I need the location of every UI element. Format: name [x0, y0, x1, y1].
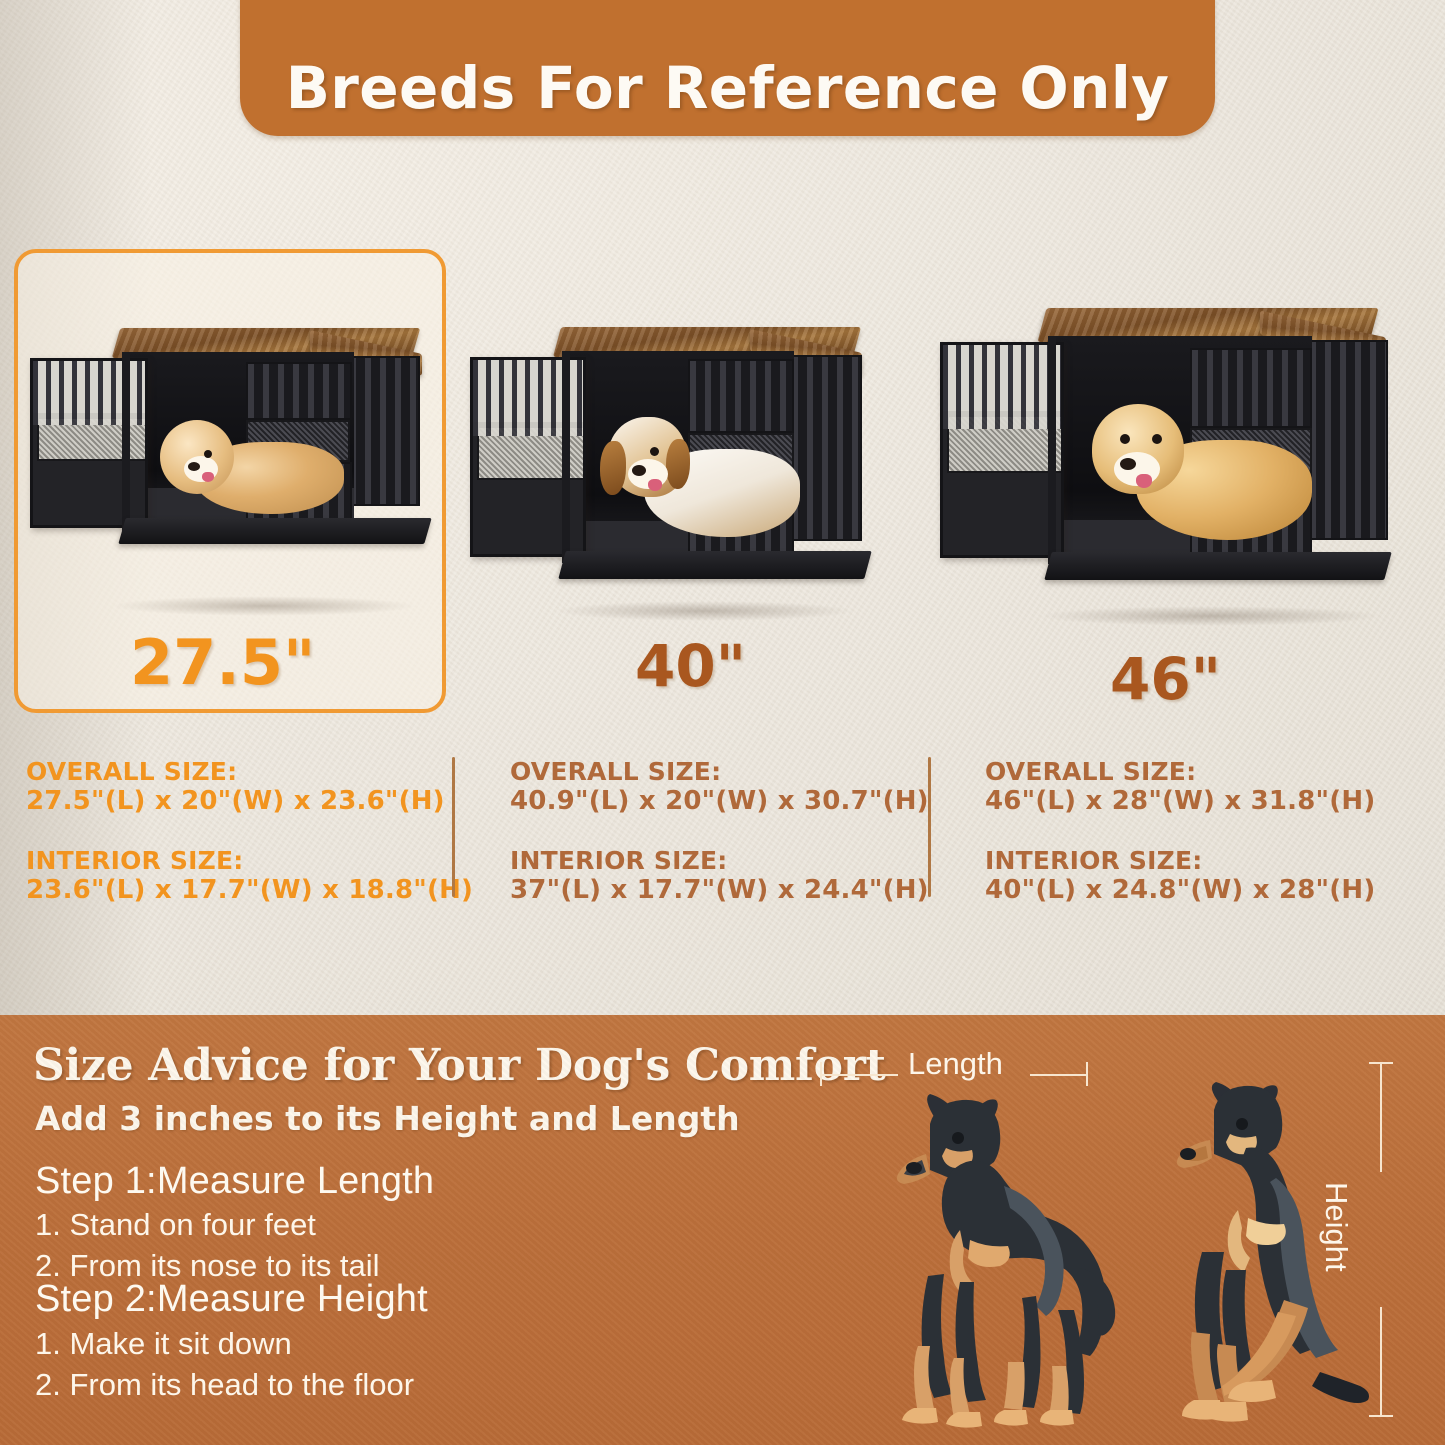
illustration-dog-sitting: [1128, 1082, 1378, 1437]
overall-size-value: 27.5"(L) x 20"(W) x 23.6"(H): [26, 786, 473, 816]
step-1-item-1: 1. Stand on four feet: [35, 1207, 316, 1243]
crate-door-open[interactable]: [30, 358, 148, 528]
length-label: Length: [908, 1046, 1003, 1082]
crate-inner-mesh-panel: [246, 420, 350, 462]
crate-door-open[interactable]: [940, 342, 1064, 558]
crate-door-hinge: [122, 352, 130, 532]
crate-front-bars-lower: [1190, 492, 1312, 558]
interior-size-label: INTERIOR SIZE:: [985, 846, 1375, 875]
product-image-crate-40[interactable]: [462, 315, 880, 615]
crate-door-hinge: [562, 351, 570, 563]
overall-size-label: OVERALL SIZE:: [510, 757, 929, 786]
length-line-right: [1030, 1074, 1088, 1076]
overall-size-value: 46"(L) x 28"(W) x 31.8"(H): [985, 786, 1375, 816]
interior-size-value: 37"(L) x 17.7"(W) x 24.4"(H): [510, 875, 929, 905]
length-dimension-callout: Length: [820, 1062, 1088, 1088]
advice-title: Size Advice for Your Dog's Comfort: [33, 1040, 886, 1091]
product-image-crate-46[interactable]: [932, 300, 1412, 620]
crate-front-bars-lower: [688, 491, 794, 557]
crate-shadow: [1038, 606, 1384, 626]
step-2-item-1: 1. Make it sit down: [35, 1326, 292, 1362]
step-1-heading: Step 1:Measure Length: [35, 1160, 434, 1203]
size-label-46: 46": [1110, 645, 1221, 713]
product-image-crate-27[interactable]: [18, 300, 442, 610]
crate-shadow: [554, 601, 855, 621]
spec-column-40: OVERALL SIZE: 40.9"(L) x 20"(W) x 30.7"(…: [510, 757, 929, 935]
length-cap-right: [1086, 1062, 1088, 1086]
size-label-40: 40": [635, 632, 746, 700]
size-label-27: 27.5": [130, 626, 315, 699]
crate-base: [118, 518, 431, 544]
infographic-page: Breeds For Reference Only: [0, 0, 1445, 1445]
height-line-bottom: [1380, 1307, 1382, 1417]
overall-size-value: 40.9"(L) x 20"(W) x 30.7"(H): [510, 786, 929, 816]
overall-size-label: OVERALL SIZE:: [26, 757, 473, 786]
crate-inner-mesh-panel: [1190, 428, 1312, 490]
crate-front-bars: [688, 359, 794, 433]
step-2-heading: Step 2:Measure Height: [35, 1278, 428, 1321]
interior-size-label: INTERIOR SIZE:: [26, 846, 473, 875]
crate-side-bars: [350, 358, 418, 504]
crate-right-side: [1308, 340, 1388, 540]
illustration-dog-standing: [818, 1090, 1148, 1435]
spec-column-46: OVERALL SIZE: 46"(L) x 28"(W) x 31.8"(H)…: [985, 757, 1375, 935]
crate-front-bars: [1190, 348, 1312, 428]
length-line-left: [820, 1074, 898, 1076]
interior-size-value: 40"(L) x 24.8"(W) x 28"(H): [985, 875, 1375, 905]
crate-front-bars: [246, 362, 352, 420]
crate-shadow: [111, 596, 416, 616]
overall-size-label: OVERALL SIZE:: [985, 757, 1375, 786]
advice-subtitle: Add 3 inches to its Height and Length: [35, 1099, 740, 1138]
height-line-top: [1380, 1062, 1382, 1172]
crate-right-side: [348, 356, 420, 506]
step-2-item-2: 2. From its head to the floor: [35, 1367, 414, 1403]
crate-front-bars-lower: [246, 462, 352, 520]
crate-base: [1044, 552, 1392, 580]
spec-column-27: OVERALL SIZE: 27.5"(L) x 20"(W) x 23.6"(…: [26, 757, 473, 935]
header-banner: Breeds For Reference Only: [240, 0, 1215, 136]
crate-right-side: [790, 355, 862, 541]
spec-divider-2: [928, 757, 931, 897]
page-title: Breeds For Reference Only: [286, 54, 1170, 122]
crate-base: [558, 551, 872, 579]
crate-inner-mesh-panel: [688, 433, 794, 489]
spec-divider-1: [452, 757, 455, 897]
interior-size-label: INTERIOR SIZE:: [510, 846, 929, 875]
interior-size-value: 23.6"(L) x 17.7"(W) x 18.8"(H): [26, 875, 473, 905]
crate-door-hinge: [1048, 336, 1056, 564]
